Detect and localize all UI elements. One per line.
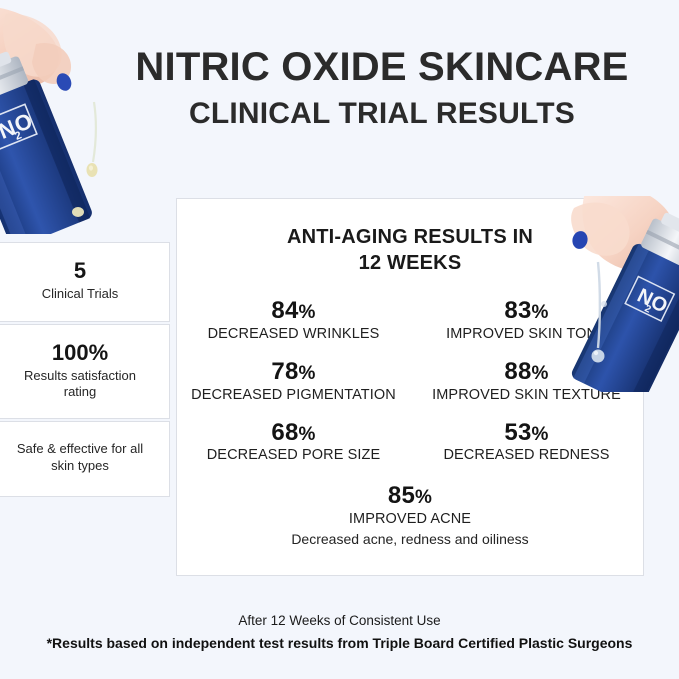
safe-effective-card: Safe & effective for all skin types bbox=[0, 421, 170, 497]
hand-holding-serum-bottle-left: N O 2 bbox=[0, 0, 136, 234]
percent-sign: % bbox=[299, 302, 316, 323]
clinical-trials-label: Clinical Trials bbox=[42, 286, 119, 302]
stat-label: DECREASED PIGMENTATION bbox=[181, 387, 406, 404]
footer-line-1: After 12 Weeks of Consistent Use bbox=[0, 612, 679, 630]
footer-line-2: *Results based on independent test resul… bbox=[0, 634, 679, 653]
stat-decreased-pore-size: 68% DECREASED PORE SIZE bbox=[177, 420, 410, 465]
stat-decreased-pigmentation: 78% DECREASED PIGMENTATION bbox=[177, 359, 410, 404]
stat-improved-acne: 85% IMPROVED ACNE Decreased acne, rednes… bbox=[177, 483, 643, 547]
satisfaction-rating-card: 100% Results satisfaction rating bbox=[0, 324, 170, 419]
stat-value: 85% bbox=[181, 483, 639, 510]
stat-label: DECREASED PORE SIZE bbox=[181, 447, 406, 464]
stat-label: DECREASED REDNESS bbox=[414, 447, 639, 464]
results-title-line2: 12 WEEKS bbox=[359, 252, 462, 274]
percent-sign: % bbox=[532, 424, 549, 445]
percent-sign: % bbox=[415, 487, 432, 508]
stat-value: 78% bbox=[181, 359, 406, 386]
stat-decreased-redness: 53% DECREASED REDNESS bbox=[410, 420, 643, 465]
stat-decreased-wrinkles: 84% DECREASED WRINKLES bbox=[177, 298, 410, 343]
percent-sign: % bbox=[532, 302, 549, 323]
results-title-line1: ANTI-AGING RESULTS IN bbox=[287, 226, 533, 248]
left-stat-cards: 5 Clinical Trials 100% Results satisfact… bbox=[0, 242, 170, 497]
satisfaction-rating-label: Results satisfaction rating bbox=[7, 368, 153, 401]
footer-disclaimer: After 12 Weeks of Consistent Use *Result… bbox=[0, 612, 679, 653]
hand-holding-serum-bottle-right: N O 2 bbox=[552, 196, 679, 392]
percent-sign: % bbox=[299, 363, 316, 384]
percent-sign: % bbox=[532, 363, 549, 384]
clinical-trials-card: 5 Clinical Trials bbox=[0, 242, 170, 322]
stat-sublabel: Decreased acne, redness and oiliness bbox=[181, 531, 639, 548]
headline-main: NITRIC OXIDE SKINCARE bbox=[120, 46, 644, 88]
page-title: NITRIC OXIDE SKINCARE CLINICAL TRIAL RES… bbox=[120, 46, 644, 130]
stat-label: DECREASED WRINKLES bbox=[181, 326, 406, 343]
stat-value: 84% bbox=[181, 298, 406, 325]
clinical-trials-value: 5 bbox=[74, 259, 86, 283]
stat-value: 53% bbox=[414, 420, 639, 447]
stat-label: IMPROVED ACNE bbox=[181, 511, 639, 528]
satisfaction-rating-value: 100% bbox=[52, 341, 108, 365]
safe-effective-label: Safe & effective for all skin types bbox=[7, 441, 153, 475]
stat-value: 68% bbox=[181, 420, 406, 447]
percent-sign: % bbox=[299, 424, 316, 445]
infographic-root: N O 2 NITRIC OXIDE SKINCARE CLINICAL TRI… bbox=[0, 0, 679, 679]
headline-subtitle: CLINICAL TRIAL RESULTS bbox=[120, 98, 644, 130]
